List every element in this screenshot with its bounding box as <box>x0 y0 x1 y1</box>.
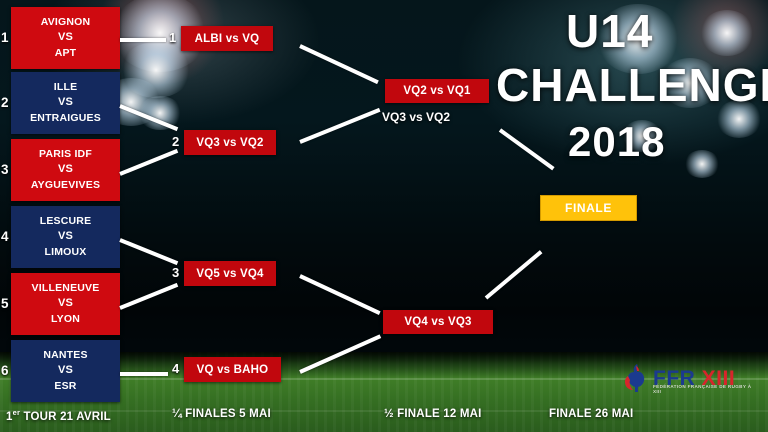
connector-sf-to-final-upper <box>499 128 555 170</box>
qf-number-3: 3 <box>172 265 179 280</box>
round1-match-3[interactable]: PARIS IDF VS AYGUEVIVES <box>11 139 120 201</box>
round1-match-2-away: ENTRAIGUES <box>30 111 101 126</box>
round1-match-5-vs: VS <box>58 296 73 312</box>
footer-round1-label: 1er TOUR 21 AVRIL <box>6 408 111 423</box>
round1-match-4-vs: VS <box>58 229 73 245</box>
quarterfinal-match-3-label: VQ5 vs VQ4 <box>196 268 263 280</box>
footer-round1-sup: er <box>13 408 21 417</box>
round1-match-1-home: AVIGNON <box>41 15 91 30</box>
round1-match-6-away: ESR <box>54 379 76 394</box>
quarterfinal-match-1-label: ALBI vs VQ <box>195 33 260 45</box>
final-box[interactable]: FINALE <box>540 195 637 221</box>
round1-match-4[interactable]: LESCURE VS LIMOUX <box>11 206 120 268</box>
connector-r1-to-qf-2a <box>119 104 178 131</box>
final-label: FINALE <box>565 201 612 215</box>
title-line-u14: U14 <box>566 4 653 58</box>
connector-r1-to-qf-2b <box>119 149 178 176</box>
round1-match-3-away: AYGUEVIVES <box>31 178 100 193</box>
quarterfinal-match-2[interactable]: VQ3 vs VQ2 <box>184 130 276 155</box>
connector-r1-to-qf-3b <box>119 283 178 310</box>
connector-qf-to-sf-top-lower <box>299 108 380 144</box>
title-line-challenge: CHALLENGE <box>496 58 768 112</box>
semifinal-match-bottom-label: VQ4 vs VQ3 <box>404 316 471 328</box>
round1-match-2-home: ILLE <box>54 80 78 95</box>
stadium-light-10 <box>684 150 720 178</box>
round1-match-3-home: PARIS IDF <box>39 147 92 162</box>
seed-number-3: 3 <box>1 162 9 177</box>
round1-match-6-vs: VS <box>58 363 73 379</box>
connector-r1-to-qf-3a <box>119 238 178 265</box>
round1-match-3-vs: VS <box>58 162 73 178</box>
connector-sf-to-final-lower <box>485 250 543 299</box>
connector-r1-to-qf-1 <box>120 38 166 42</box>
rooster-icon <box>622 363 648 393</box>
round1-match-1-vs: VS <box>58 30 73 46</box>
footer-semis-label: ½ FINALE 12 MAI <box>384 408 482 420</box>
qf-number-4: 4 <box>172 361 179 376</box>
seed-number-4: 4 <box>1 229 9 244</box>
connector-qf-to-sf-bottom-upper <box>299 274 380 315</box>
seed-number-6: 6 <box>1 363 9 378</box>
connector-r1-to-qf-4 <box>120 372 168 376</box>
semifinal-match-bottom[interactable]: VQ4 vs VQ3 <box>383 310 493 334</box>
tournament-bracket-poster: 1 2 3 4 5 6 AVIGNON VS APT ILLE VS ENTRA… <box>0 0 768 432</box>
round1-match-4-away: LIMOUX <box>44 245 86 260</box>
quarterfinal-match-4-label: VQ vs BAHO <box>197 364 269 376</box>
quarterfinal-match-2-label: VQ3 vs VQ2 <box>196 137 263 149</box>
stadium-light-7 <box>700 10 754 56</box>
round1-match-1-away: APT <box>55 46 77 61</box>
seed-number-5: 5 <box>1 296 9 311</box>
seed-number-2: 2 <box>1 95 9 110</box>
quarterfinal-match-3[interactable]: VQ5 vs VQ4 <box>184 261 276 286</box>
qf-number-1: 1 <box>169 30 176 45</box>
semifinal-match-top-label: VQ2 vs VQ1 <box>403 85 470 97</box>
quarterfinal-match-4[interactable]: VQ vs BAHO <box>184 357 281 382</box>
semifinal-match-top-alt-label: VQ3 vs VQ2 <box>382 110 450 124</box>
footer-quarters-label: ¼ FINALES 5 MAI <box>172 408 271 420</box>
semifinal-match-top[interactable]: VQ2 vs VQ1 <box>385 79 489 103</box>
connector-qf-to-sf-top-upper <box>299 44 379 84</box>
title-line-year: 2018 <box>568 118 665 166</box>
footer-final-label: FINALE 26 MAI <box>549 408 633 420</box>
quarterfinal-match-1[interactable]: ALBI vs VQ <box>181 26 273 51</box>
round1-match-5-home: VILLENEUVE <box>32 281 100 296</box>
round1-match-5-away: LYON <box>51 312 80 327</box>
round1-match-6-home: NANTES <box>43 348 87 363</box>
qf-number-2: 2 <box>172 134 179 149</box>
round1-match-1[interactable]: AVIGNON VS APT <box>11 7 120 69</box>
round1-match-4-home: LESCURE <box>40 214 92 229</box>
round1-match-2[interactable]: ILLE VS ENTRAIGUES <box>11 72 120 134</box>
footer-round1-rest: TOUR 21 AVRIL <box>20 411 111 423</box>
round1-match-5[interactable]: VILLENEUVE VS LYON <box>11 273 120 335</box>
round1-match-2-vs: VS <box>58 95 73 111</box>
footer-round1-prefix: 1 <box>6 411 13 423</box>
ffr-xiii-logo: FFR XIII FÉDÉRATION FRANÇAISE DE RUGBY À… <box>622 358 758 398</box>
round1-match-6[interactable]: NANTES VS ESR <box>11 340 120 402</box>
seed-number-1: 1 <box>1 30 9 45</box>
logo-subtitle: FÉDÉRATION FRANÇAISE DE RUGBY À XIII <box>653 384 758 394</box>
